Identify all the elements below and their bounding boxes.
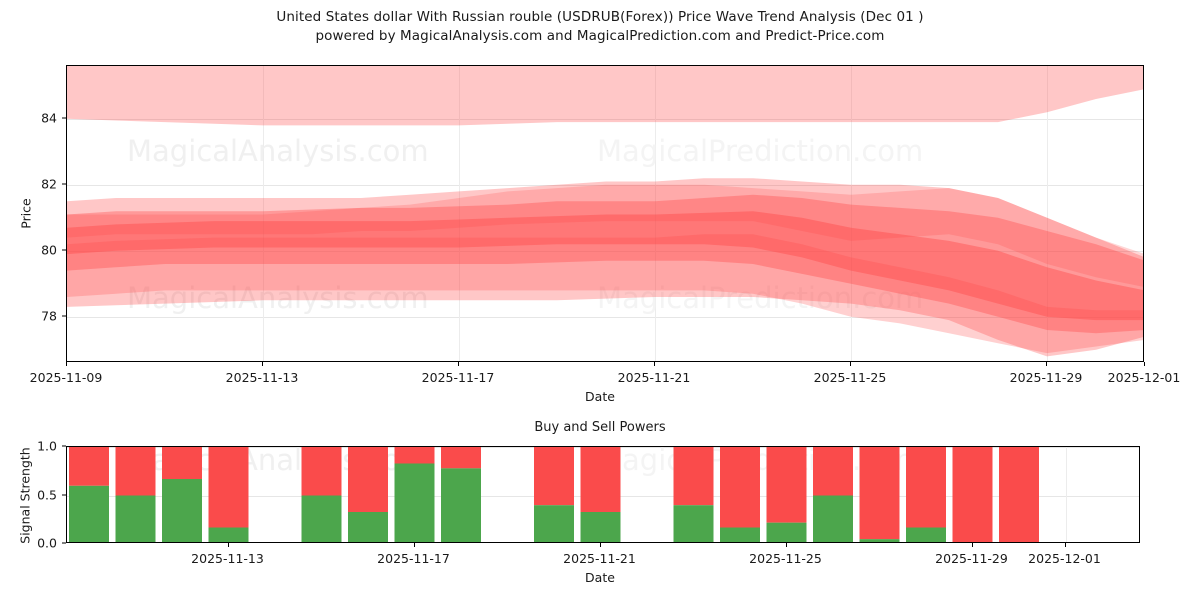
title-line-2: powered by MagicalAnalysis.com and Magic…	[0, 27, 1200, 46]
signal-y-tick-label-0: 0.0	[37, 536, 57, 551]
x-tick-label-2025-11-13: 2025-11-13	[226, 370, 299, 385]
signal-x-tick-label-2025-11-17: 2025-11-17	[377, 551, 450, 566]
chart-page: United States dollar With Russian rouble…	[0, 0, 1200, 600]
x-tick-label-2025-11-25: 2025-11-25	[814, 370, 887, 385]
buy-power-bar	[581, 512, 621, 543]
sell-power-bar	[581, 447, 621, 512]
sell-power-bar	[116, 447, 156, 496]
x-tick-mark-2025-11-13	[262, 362, 263, 366]
signal-y-tick-mark-0.5	[62, 494, 66, 495]
sell-power-bar	[999, 447, 1039, 543]
title-line-1: United States dollar With Russian rouble…	[0, 8, 1200, 27]
x-tick-mark-2025-11-25	[850, 362, 851, 366]
signal-x-tick-label-2025-11-21: 2025-11-21	[563, 551, 636, 566]
y-tick-mark-82	[62, 183, 66, 184]
sell-power-bar	[395, 447, 435, 463]
buy-power-bar	[348, 512, 388, 543]
buy-power-bar	[860, 539, 900, 543]
y-tick-label-78: 78	[41, 308, 57, 323]
wave-band-outer-upper-band	[67, 66, 1144, 125]
buy-power-bar	[69, 486, 109, 543]
sell-power-bar	[534, 447, 574, 505]
buy-power-bar	[441, 468, 481, 543]
sell-power-bar	[767, 447, 807, 523]
buy-power-bar	[209, 528, 249, 543]
buy-power-bar	[767, 523, 807, 543]
buy-power-bar	[116, 496, 156, 544]
signal-x-tick-label-2025-11-25: 2025-11-25	[749, 551, 822, 566]
x-tick-label-2025-11-09: 2025-11-09	[30, 370, 103, 385]
y-tick-mark-78	[62, 315, 66, 316]
buy-power-bar	[534, 505, 574, 543]
price-wave-bands	[67, 66, 1144, 362]
x-tick-mark-2025-11-29	[1046, 362, 1047, 366]
sell-power-bar	[813, 447, 853, 496]
signal-x-tick-mark-2025-11-21	[600, 543, 601, 547]
x-tick-label-2025-11-21: 2025-11-21	[618, 370, 691, 385]
signal-y-tick-mark-0	[62, 543, 66, 544]
buy-sell-chart-plot-area: MagicalAnalysis.com MagicalPrediction.co…	[66, 446, 1140, 543]
signal-y-tick-label-0.5: 0.5	[37, 487, 57, 502]
x-tick-label-2025-11-29: 2025-11-29	[1010, 370, 1083, 385]
sell-power-bar	[348, 447, 388, 512]
signal-x-tick-mark-2025-12-01	[1065, 543, 1066, 547]
y-tick-mark-84	[62, 117, 66, 118]
sell-power-bar	[860, 447, 900, 539]
buy-power-bar	[720, 528, 760, 543]
page-title: United States dollar With Russian rouble…	[0, 8, 1200, 46]
signal-x-tick-mark-2025-11-25	[786, 543, 787, 547]
sell-power-bar	[209, 447, 249, 528]
x-tick-mark-2025-11-21	[654, 362, 655, 366]
x-tick-label-2025-11-17: 2025-11-17	[422, 370, 495, 385]
signal-x-tick-mark-2025-11-29	[972, 543, 973, 547]
buy-power-bar	[162, 479, 202, 543]
x-tick-mark-2025-11-17	[458, 362, 459, 366]
signal-y-tick-label-1: 1.0	[37, 439, 57, 454]
x-tick-mark-2025-11-09	[66, 362, 67, 366]
signal-x-axis-title: Date	[0, 570, 1200, 585]
signal-y-tick-mark-1	[62, 446, 66, 447]
sell-power-bar	[441, 447, 481, 468]
sell-power-bar	[162, 447, 202, 479]
y-tick-label-82: 82	[41, 176, 57, 191]
x-tick-mark-2025-12-01	[1144, 362, 1145, 366]
signal-x-tick-label-2025-11-13: 2025-11-13	[191, 551, 264, 566]
buy-power-bar	[674, 505, 714, 543]
sell-power-bar	[953, 447, 993, 543]
buy-power-bar	[813, 496, 853, 544]
signal-x-tick-mark-2025-11-17	[414, 543, 415, 547]
y-tick-label-84: 84	[41, 110, 57, 125]
buy-power-bar	[302, 496, 342, 544]
y-tick-mark-80	[62, 249, 66, 250]
price-x-axis-title: Date	[0, 389, 1200, 404]
buy-power-bar	[395, 463, 435, 543]
sell-power-bar	[674, 447, 714, 505]
sell-power-bar	[69, 447, 109, 486]
buy-sell-stacked-bars	[67, 447, 1140, 543]
sell-power-bar	[906, 447, 946, 528]
x-tick-label-2025-12-01: 2025-12-01	[1108, 370, 1181, 385]
y-tick-label-80: 80	[41, 242, 57, 257]
buy-power-bar	[906, 528, 946, 543]
signal-x-tick-label-2025-11-29: 2025-11-29	[935, 551, 1008, 566]
sell-power-bar	[720, 447, 760, 528]
signal-y-axis-title: Signal Strength	[18, 431, 33, 561]
signal-x-tick-mark-2025-11-13	[228, 543, 229, 547]
price-y-axis-title: Price	[19, 184, 34, 244]
buy-sell-chart-title: Buy and Sell Powers	[0, 420, 1200, 435]
signal-x-tick-label-2025-12-01: 2025-12-01	[1028, 551, 1101, 566]
price-wave-chart-plot-area: MagicalAnalysis.com MagicalPrediction.co…	[66, 65, 1144, 362]
sell-power-bar	[302, 447, 342, 496]
